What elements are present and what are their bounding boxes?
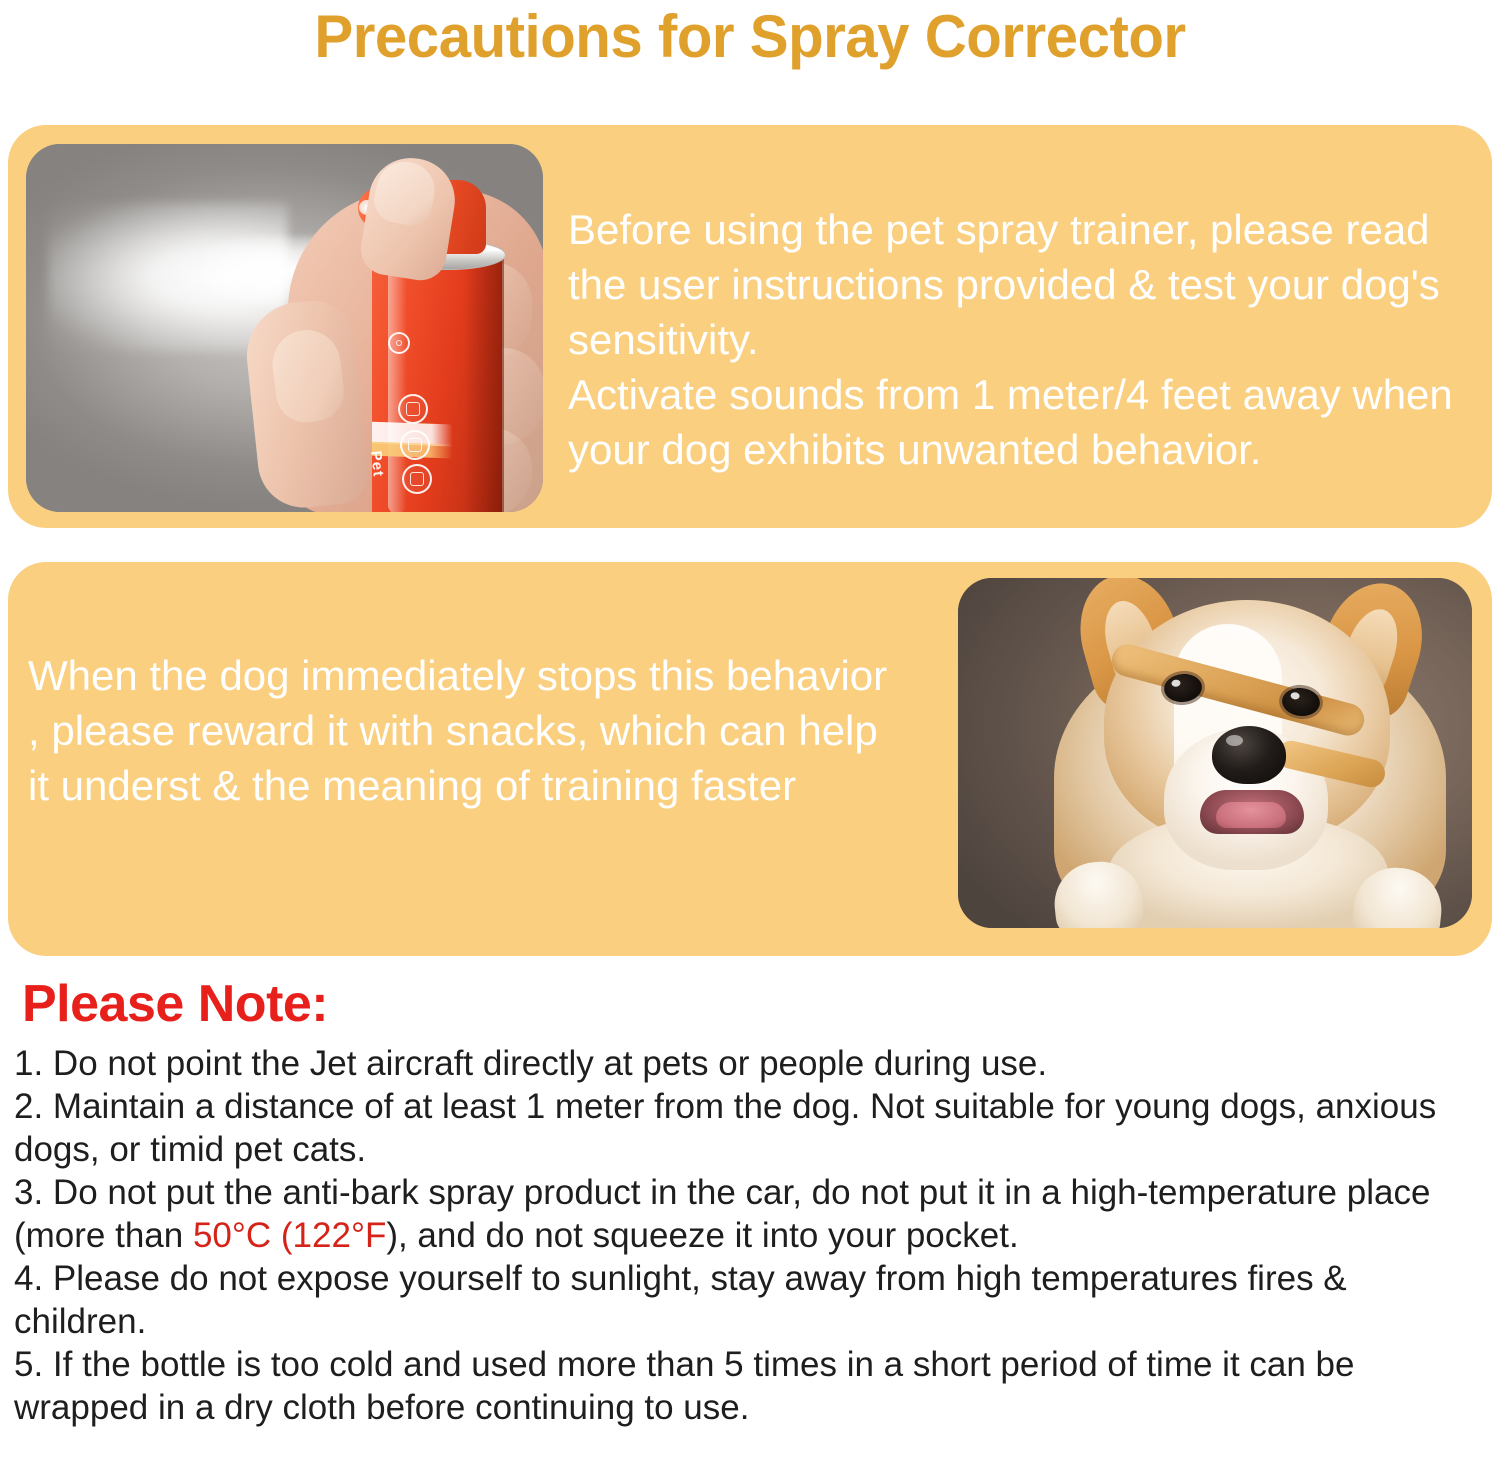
spray-can-brand-label: Pet — [367, 450, 387, 478]
note-item: 5. If the bottle is too cold and used mo… — [14, 1343, 1484, 1429]
warning-badge-icon — [402, 464, 432, 494]
note-item-number: 1. — [14, 1044, 43, 1083]
note-item-number: 2. — [14, 1087, 43, 1126]
warning-badge-icon — [398, 394, 428, 424]
panel-one-text: Before using the pet spray trainer, plea… — [568, 202, 1480, 477]
infographic-page: Precautions for Spray Corrector Pet — [0, 0, 1500, 1461]
note-item-text: If the bottle is too cold and used more … — [14, 1345, 1355, 1427]
panel-two-text: When the dog immediately stops this beha… — [28, 648, 908, 813]
note-item-number: 4. — [14, 1259, 43, 1298]
note-item-text: Maintain a distance of at least 1 meter … — [14, 1087, 1436, 1169]
dog-tongue-shape — [1216, 802, 1286, 828]
spray-can-photo: Pet — [26, 144, 543, 512]
note-list: 1. Do not point the Jet aircraft directl… — [14, 1042, 1484, 1429]
warning-badge-icon — [400, 430, 430, 460]
page-title: Precautions for Spray Corrector — [23, 2, 1478, 72]
note-item-number: 3. — [14, 1173, 43, 1212]
note-item: 4. Please do not expose yourself to sunl… — [14, 1257, 1484, 1343]
note-item-number: 5. — [14, 1345, 43, 1384]
spray-can-shading — [464, 252, 504, 512]
note-item-text: Do not point the Jet aircraft directly a… — [43, 1044, 1047, 1083]
note-item: 2. Maintain a distance of at least 1 met… — [14, 1085, 1484, 1171]
note-heading: Please Note: — [22, 974, 328, 1034]
dog-nose-shape — [1212, 726, 1286, 784]
note-item: 1. Do not point the Jet aircraft directl… — [14, 1042, 1484, 1085]
warning-badge-icon — [388, 332, 410, 354]
note-item-text: Please do not expose yourself to sunligh… — [14, 1259, 1347, 1341]
note-item-highlight: 50°C (122°F — [193, 1216, 386, 1255]
dog-photo — [958, 578, 1472, 928]
hand-illustration: Pet — [176, 152, 543, 512]
note-item: 3. Do not put the anti-bark spray produc… — [14, 1171, 1484, 1257]
note-item-text-after: ), and do not squeeze it into your pocke… — [386, 1216, 1018, 1255]
